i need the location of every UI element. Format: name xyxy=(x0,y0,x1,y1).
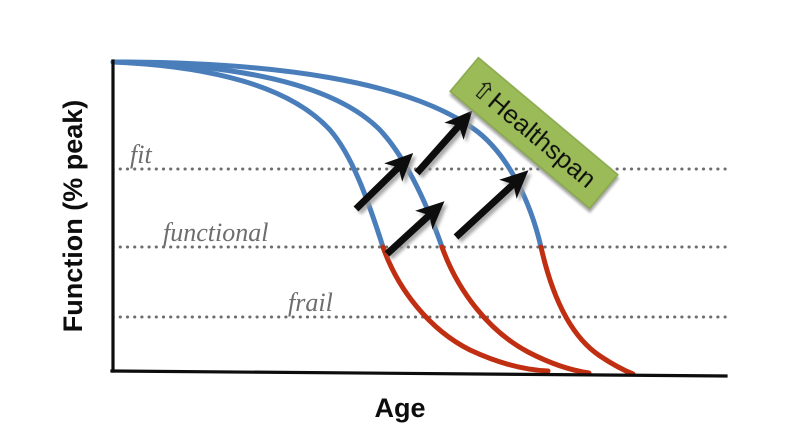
y-axis-label: Function (% peak) xyxy=(58,100,88,333)
trajectory-1-decline xyxy=(383,247,548,371)
threshold-label-functional: functional xyxy=(163,218,268,247)
threshold-label-fit: fit xyxy=(130,140,152,169)
trajectory-2-decline xyxy=(442,247,589,373)
threshold-label-frail: frail xyxy=(288,288,333,317)
healthspan-label: ⇧Healthspan xyxy=(466,72,603,194)
trajectory-3-decline xyxy=(541,247,633,374)
shift-arrow-2 xyxy=(417,120,464,173)
x-axis-label: Age xyxy=(374,393,425,423)
shift-arrow-3 xyxy=(387,210,435,254)
healthspan-figure: fit functional frail Age Function (% pea… xyxy=(0,0,800,434)
shift-arrow-4 xyxy=(456,179,519,237)
figure-canvas: fit functional frail Age Function (% pea… xyxy=(0,0,800,434)
